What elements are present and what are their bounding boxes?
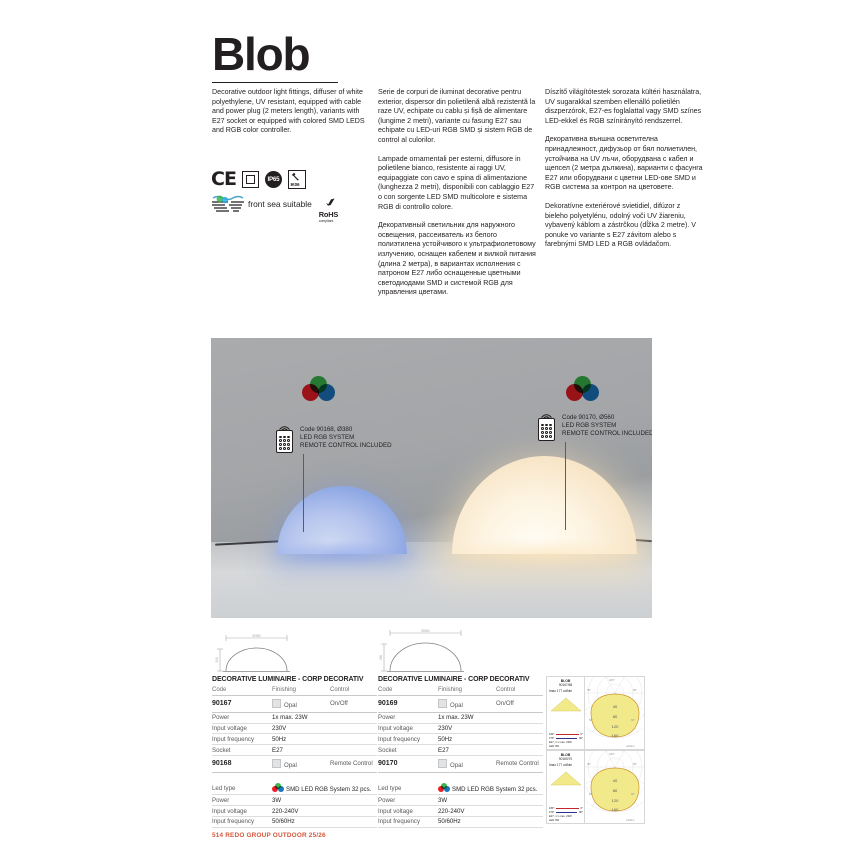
table-row[interactable]: 90168 Opal Remote Control: [212, 755, 377, 772]
row-spacer: [212, 772, 377, 781]
table-row[interactable]: 90167 Opal On/Off: [212, 695, 377, 712]
finish-swatch-icon: [438, 699, 447, 708]
finish-swatch-icon: [272, 759, 281, 768]
spec-heading-left: DECORATIVE LUMINAIRE - CORP DECORATIV: [212, 676, 377, 683]
photometric-diagram-2: BLOB 90169/70 Imax 177 cd/klm 180°0° 270…: [546, 750, 645, 824]
remote-keypad: [279, 436, 290, 450]
svg-text:180°: 180°: [609, 678, 615, 682]
description-sk: Dekoratívne exteriérové svietidiel, difú…: [545, 202, 705, 250]
svg-text:80: 80: [613, 788, 618, 793]
col-finishing: Finishing: [272, 686, 330, 695]
callout-right: Code 90170, Ø560 LED RGB SYSTEM REMOTE C…: [538, 414, 652, 441]
spec-table-left-grid: Code Finishing Control 90167 Opal On/Off…: [212, 686, 377, 828]
finish-label: Opal: [284, 702, 297, 709]
callout-left-text: Code 90168, Ø380 LED RGB SYSTEM REMOTE C…: [300, 426, 392, 451]
table-row: SocketE27: [212, 745, 377, 756]
photometric-1-polar-chart: 4080 120160 180°90°90° 60°60° cd/klm: [585, 677, 645, 749]
attr-value: 230V: [272, 723, 377, 734]
table-row: Input frequency50Hz: [212, 734, 377, 745]
signal-wave-icon: [278, 423, 291, 431]
ip65-icon: IP65: [265, 171, 282, 188]
svg-text:120: 120: [612, 798, 619, 803]
table-header-row: Code Finishing Control: [212, 686, 377, 695]
attr-label: Power: [378, 795, 438, 806]
remote-keypad: [541, 424, 552, 438]
attr-label: Input frequency: [378, 817, 438, 828]
table-row[interactable]: 90170 Opal Remote Control: [378, 755, 543, 772]
product-finishing: Opal: [272, 695, 330, 712]
attr-label: Power: [212, 712, 272, 723]
blob-lamp-blue: [277, 486, 407, 554]
checkmark-icon: [319, 198, 343, 206]
spec-table-right: DECORATIVE LUMINAIRE - CORP DECORATIV Co…: [378, 676, 543, 828]
lamp-line-2: LED 3W: [549, 819, 572, 822]
svg-text:90°: 90°: [633, 762, 637, 766]
rgb-blue-dot: [582, 384, 599, 401]
product-code: 90170: [378, 755, 438, 772]
attr-value: E27: [272, 745, 377, 756]
title-underline: [212, 82, 338, 83]
product-hero-photo: Code 90168, Ø380 LED RGB SYSTEM REMOTE C…: [211, 338, 652, 618]
callout-left-line2: LED RGB SYSTEM: [300, 434, 392, 442]
attr-value: 230V: [438, 723, 543, 734]
svg-text:280: 280: [379, 655, 383, 661]
sea-waves-icon: [211, 195, 245, 213]
table-row: Power3W: [378, 795, 543, 806]
svg-text:180°: 180°: [609, 752, 615, 756]
photometric-1-imax: Imax 177 cd/klm: [549, 689, 582, 693]
attr-label: Socket: [212, 745, 272, 756]
rohs-sublabel: compliant: [319, 219, 345, 223]
attr-label: Input voltage: [378, 723, 438, 734]
table-header-row: Code Finishing Control: [378, 686, 543, 695]
product-code: 90168: [212, 755, 272, 772]
col-control: Control: [496, 686, 543, 695]
product-finishing: Opal: [438, 695, 496, 712]
svg-text:120: 120: [612, 724, 619, 729]
callout-left-code: Code 90168, Ø380: [300, 426, 392, 434]
table-row: Power1x max. 23W: [378, 712, 543, 723]
table-row: Input voltage230V: [378, 723, 543, 734]
table-row: Power1x max. 23W: [212, 712, 377, 723]
product-control: On/Off: [496, 695, 543, 712]
table-row[interactable]: 90169 Opal On/Off: [378, 695, 543, 712]
catalog-page: Blob Decorative outdoor light fittings, …: [0, 0, 868, 868]
table-row: Input voltage220-240V: [378, 806, 543, 817]
ce-mark-icon: CE: [211, 170, 236, 189]
svg-text:Ø560: Ø560: [421, 629, 429, 633]
description-it: Lampade ornamentali per esterni, diffuso…: [378, 155, 536, 213]
col-control: Control: [330, 686, 377, 695]
signal-wave-icon: [540, 411, 553, 419]
finish-swatch-icon: [272, 699, 281, 708]
svg-text:60°: 60°: [631, 792, 635, 796]
photometric-2-legend: 180°0° 270°90°: [549, 807, 583, 814]
led-type-label: SMD LED RGB System 32 pcs.: [286, 786, 371, 793]
col-code: Code: [212, 686, 272, 695]
attr-label: Power: [378, 712, 438, 723]
photometric-2-info: BLOB 90169/70 Imax 177 cd/klm 180°0° 270…: [547, 751, 585, 823]
legend-c90-right: 90°: [579, 811, 583, 814]
attr-value: 3W: [272, 795, 377, 806]
description-en: Decorative outdoor light fittings, diffu…: [212, 88, 372, 136]
photometric-2-subtitle: 90169/70: [549, 757, 582, 761]
spec-table-right-grid: Code Finishing Control 90169 Opal On/Off…: [378, 686, 543, 828]
callout-right-line2: LED RGB SYSTEM: [562, 422, 652, 430]
row-spacer: [378, 772, 543, 781]
certification-badges: CE IP65 IK06: [211, 168, 371, 213]
class-ii-icon: [242, 171, 259, 188]
table-row: SocketE27: [378, 745, 543, 756]
callout-left: Code 90168, Ø380 LED RGB SYSTEM REMOTE C…: [276, 426, 392, 453]
col-finishing: Finishing: [438, 686, 496, 695]
attr-label: Input frequency: [212, 817, 272, 828]
attr-label: Socket: [378, 745, 438, 756]
product-control: Remote Control: [330, 755, 377, 772]
product-code: 90167: [212, 695, 272, 712]
attr-value: 1x max. 23W: [272, 712, 377, 723]
svg-text:90°: 90°: [587, 762, 591, 766]
table-row: Input voltage220-240V: [212, 806, 377, 817]
rohs-label: RoHS: [319, 211, 345, 219]
attr-label: Input voltage: [212, 806, 272, 817]
svg-text:60°: 60°: [589, 792, 593, 796]
attr-value: 3W: [438, 795, 543, 806]
rgb-color-mix-icon: [272, 783, 284, 792]
finish-label: Opal: [284, 762, 297, 769]
photometric-2-polar-chart: 4080 120160 180°90°90° 60°60° cd/klm: [585, 751, 645, 823]
rohs-badge: RoHS compliant: [319, 193, 345, 213]
spec-table-left: DECORATIVE LUMINAIRE - CORP DECORATIV Co…: [212, 676, 377, 828]
svg-text:cd/klm: cd/klm: [626, 744, 635, 748]
rgb-color-mix-icon-left: [302, 376, 336, 402]
finish-label: Opal: [450, 762, 463, 769]
description-ro: Serie de corpuri de iluminat decorative …: [378, 88, 536, 146]
attr-label: Input frequency: [378, 734, 438, 745]
product-finishing: Opal: [272, 755, 330, 772]
callout-right-text: Code 90170, Ø560 LED RGB SYSTEM REMOTE C…: [562, 414, 652, 439]
photometric-1-subtitle: 90167/68: [549, 683, 582, 687]
svg-text:60°: 60°: [589, 718, 593, 722]
hammer-glyph: [291, 172, 300, 181]
led-type-label: SMD LED RGB System 32 pcs.: [452, 786, 537, 793]
photometric-1-lamp: E27, 1 x max. 23W LED 3W: [549, 741, 572, 748]
svg-text:160: 160: [612, 807, 619, 812]
remote-control-icon: [538, 418, 555, 441]
product-code: 90169: [378, 695, 438, 712]
description-bg: Декоративна външна осветителна принадлеж…: [545, 135, 705, 193]
photometric-2-lamp: E27, 1 x max. 23W LED 3W: [549, 815, 572, 822]
svg-text:cd/klm: cd/klm: [626, 818, 635, 822]
attr-value: 220-240V: [272, 806, 377, 817]
page-title: Blob: [212, 28, 338, 80]
table-row: Led type SMD LED RGB System 32 pcs.: [378, 782, 543, 795]
ik06-label: IK06: [290, 182, 299, 187]
attr-value: 1x max. 23W: [438, 712, 543, 723]
attr-value: 50/60Hz: [438, 817, 543, 828]
photometric-1-legend: 180°0° 270°90°: [549, 733, 583, 740]
rgb-blue-dot: [318, 384, 335, 401]
photometric-2-imax: Imax 177 cd/klm: [549, 763, 582, 767]
description-hu: Díszítő világítótestek sorozata kültéri …: [545, 88, 705, 126]
photometric-2-thumbnail: [549, 768, 583, 786]
remote-control-icon: [276, 430, 293, 453]
attr-label: Led type: [212, 782, 272, 795]
table-row: Input voltage230V: [212, 723, 377, 734]
table-row: Power3W: [212, 795, 377, 806]
rgb-red-dot: [566, 384, 583, 401]
product-finishing: Opal: [438, 755, 496, 772]
rgb-color-mix-icon: [438, 783, 450, 792]
attr-value: SMD LED RGB System 32 pcs.: [438, 782, 543, 795]
legend-c90-right: 90°: [579, 737, 583, 740]
attr-label: Input voltage: [378, 806, 438, 817]
svg-text:Ø380: Ø380: [252, 634, 260, 638]
photometric-1-info: BLOB 90167/68 Imax 177 cd/klm 180°0° 270…: [547, 677, 585, 749]
description-column-1: Decorative outdoor light fittings, diffu…: [212, 88, 372, 145]
blob-lamp-warm: [452, 456, 637, 554]
page-title-block: Blob: [212, 28, 338, 83]
ik06-icon: IK06: [288, 170, 306, 189]
technical-drawing-90167: Ø380 190: [212, 632, 372, 676]
front-sea-suitable-label: front sea suitable: [248, 200, 312, 209]
finish-label: Opal: [450, 702, 463, 709]
attr-value: 50Hz: [272, 734, 377, 745]
svg-text:90°: 90°: [633, 688, 637, 692]
callout-left-leader-line: [303, 454, 304, 532]
front-sea-suitable-badge: front sea suitable: [211, 195, 312, 213]
attr-label: Input voltage: [212, 723, 272, 734]
svg-text:160: 160: [612, 733, 619, 738]
svg-text:40: 40: [613, 778, 618, 783]
svg-text:90°: 90°: [587, 688, 591, 692]
table-row: Led type SMD LED RGB System 32 pcs.: [212, 782, 377, 795]
description-ru: Декоративный светильник для наружного ос…: [378, 221, 536, 298]
attr-label: Power: [212, 795, 272, 806]
svg-text:40: 40: [613, 704, 618, 709]
page-footer: 514 REDO GROUP OUTDOOR 25/26: [212, 832, 326, 839]
rgb-red-dot: [302, 384, 319, 401]
callout-right-line3: REMOTE CONTROL INCLUDED: [562, 430, 652, 438]
table-row: Input frequency50/60Hz: [378, 817, 543, 828]
description-column-3: Díszítő világítótestek sorozata kültéri …: [545, 88, 705, 259]
description-column-2: Serie de corpuri de iluminat decorative …: [378, 88, 536, 307]
svg-text:190: 190: [215, 657, 219, 663]
attr-label: Input frequency: [212, 734, 272, 745]
spec-heading-right: DECORATIVE LUMINAIRE - CORP DECORATIV: [378, 676, 543, 683]
callout-left-line3: REMOTE CONTROL INCLUDED: [300, 442, 392, 450]
technical-drawing-90169: Ø560 280: [378, 626, 543, 676]
callout-right-leader-line: [565, 442, 566, 530]
callout-right-code: Code 90170, Ø560: [562, 414, 652, 422]
table-row: Input frequency50/60Hz: [212, 817, 377, 828]
svg-text:60°: 60°: [631, 718, 635, 722]
attr-value: 50Hz: [438, 734, 543, 745]
lamp-line-2: LED 3W: [549, 745, 572, 748]
attr-value: 50/60Hz: [272, 817, 377, 828]
attr-value: SMD LED RGB System 32 pcs.: [272, 782, 377, 795]
col-code: Code: [378, 686, 438, 695]
legend-c90-left: 270°: [549, 737, 554, 740]
finish-swatch-icon: [438, 759, 447, 768]
table-row: Input frequency50Hz: [378, 734, 543, 745]
rgb-color-mix-icon-right: [566, 376, 600, 402]
product-control: Remote Control: [496, 755, 543, 772]
attr-value: 220-240V: [438, 806, 543, 817]
legend-c90-left: 270°: [549, 811, 554, 814]
attr-value: E27: [438, 745, 543, 756]
photometric-diagram-1: BLOB 90167/68 Imax 177 cd/klm 180°0° 270…: [546, 676, 645, 750]
svg-text:80: 80: [613, 714, 618, 719]
photometric-1-thumbnail: [549, 694, 583, 712]
product-control: On/Off: [330, 695, 377, 712]
attr-label: Led type: [378, 782, 438, 795]
